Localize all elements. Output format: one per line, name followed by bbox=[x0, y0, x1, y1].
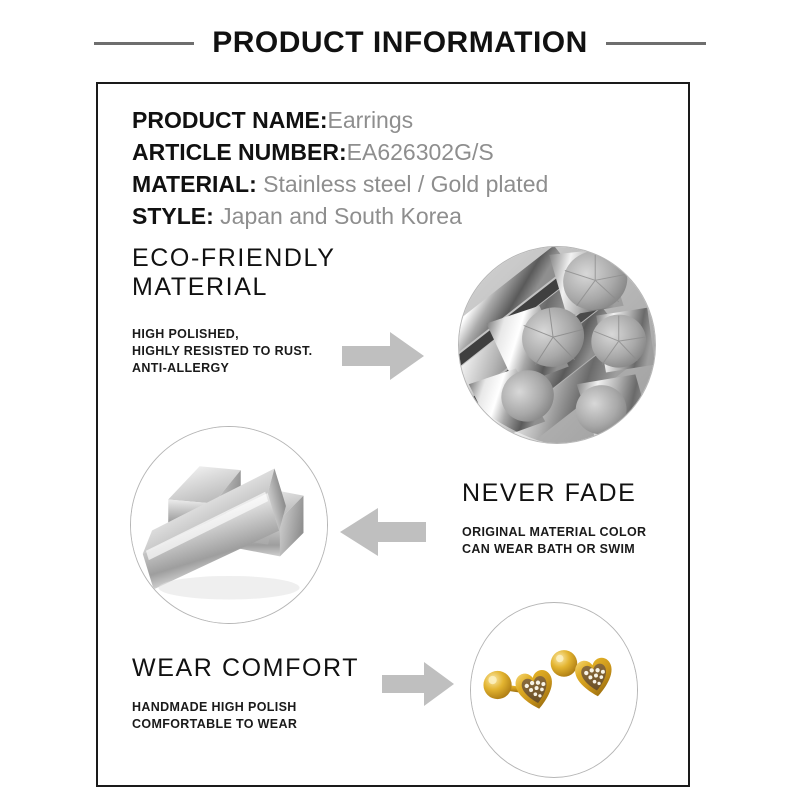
feature-description-line: COMFORTABLE TO WEAR bbox=[132, 716, 359, 733]
feature-block-never-fade: NEVER FADE ORIGINAL MATERIAL COLOR CAN W… bbox=[462, 479, 646, 558]
spec-label: ARTICLE NUMBER: bbox=[132, 139, 347, 165]
steel-rods-photo bbox=[458, 246, 656, 444]
feature-description: HIGH POLISHED, HIGHLY RESISTED TO RUST. … bbox=[132, 326, 335, 377]
spec-label: PRODUCT NAME: bbox=[132, 107, 328, 133]
silver-ingots-photo bbox=[130, 426, 328, 624]
feature-block-eco-friendly-material: ECO-FRIENDLY MATERIAL HIGH POLISHED, HIG… bbox=[132, 244, 335, 377]
spec-row-style: STYLE: Japan and South Korea bbox=[132, 200, 672, 232]
feature-title: ECO-FRIENDLY MATERIAL bbox=[132, 244, 335, 302]
arrow-left-icon bbox=[340, 508, 426, 561]
page-header: PRODUCT INFORMATION bbox=[0, 26, 800, 60]
feature-block-wear-comfort: WEAR COMFORT HANDMADE HIGH POLISH COMFOR… bbox=[132, 654, 359, 733]
feature-description: ORIGINAL MATERIAL COLOR CAN WEAR BATH OR… bbox=[462, 524, 646, 558]
feature-description-line: HIGHLY RESISTED TO RUST. bbox=[132, 343, 335, 360]
arrow-right-icon bbox=[342, 332, 424, 385]
spec-value: Stainless steel / Gold plated bbox=[257, 171, 549, 197]
feature-title-line1: WEAR COMFORT bbox=[132, 654, 359, 683]
spec-label: MATERIAL: bbox=[132, 171, 257, 197]
page-title: PRODUCT INFORMATION bbox=[212, 26, 588, 60]
content-frame: PRODUCT NAME:Earrings ARTICLE NUMBER:EA6… bbox=[96, 82, 690, 787]
spec-value: Earrings bbox=[328, 107, 414, 133]
spec-value: EA626302G/S bbox=[347, 139, 494, 165]
title-rule-right bbox=[606, 42, 706, 45]
feature-description-line: HIGH POLISHED, bbox=[132, 326, 335, 343]
feature-title-line2: MATERIAL bbox=[132, 273, 335, 302]
spec-row-product-name: PRODUCT NAME:Earrings bbox=[132, 104, 672, 136]
feature-description-line: ANTI-ALLERGY bbox=[132, 360, 335, 377]
feature-title-line1: ECO-FRIENDLY bbox=[132, 244, 335, 273]
feature-description-line: CAN WEAR BATH OR SWIM bbox=[462, 541, 646, 558]
arrow-right-icon bbox=[382, 662, 454, 711]
spec-label: STYLE: bbox=[132, 203, 214, 229]
feature-title: WEAR COMFORT bbox=[132, 654, 359, 683]
specification-list: PRODUCT NAME:Earrings ARTICLE NUMBER:EA6… bbox=[132, 104, 672, 232]
feature-description-line: ORIGINAL MATERIAL COLOR bbox=[462, 524, 646, 541]
product-information-infographic: PRODUCT INFORMATION PRODUCT NAME:Earring… bbox=[0, 0, 800, 800]
gold-heart-earrings-photo bbox=[470, 602, 638, 778]
feature-title-line1: NEVER FADE bbox=[462, 479, 646, 508]
feature-description-line: HANDMADE HIGH POLISH bbox=[132, 699, 359, 716]
feature-description: HANDMADE HIGH POLISH COMFORTABLE TO WEAR bbox=[132, 699, 359, 733]
spec-value: Japan and South Korea bbox=[214, 203, 462, 229]
spec-row-article-number: ARTICLE NUMBER:EA626302G/S bbox=[132, 136, 672, 168]
feature-title: NEVER FADE bbox=[462, 479, 646, 508]
title-rule-left bbox=[94, 42, 194, 45]
spec-row-material: MATERIAL: Stainless steel / Gold plated bbox=[132, 168, 672, 200]
